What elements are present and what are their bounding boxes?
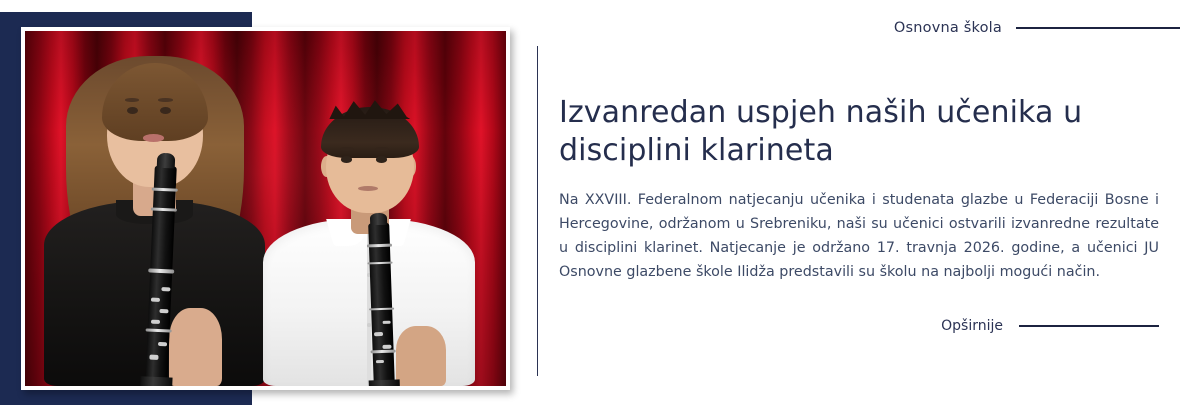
clarinet-bell: [140, 376, 173, 386]
clarinet-mouthpiece: [157, 152, 175, 168]
horizontal-rule-icon: [1016, 27, 1180, 29]
clarinet-key: [382, 320, 391, 324]
clarinet-ring: [152, 187, 179, 191]
page-title: Izvanredan uspjeh naših učenika u discip…: [559, 94, 1119, 171]
clarinet-bell: [369, 379, 400, 386]
clarinet-ring: [151, 207, 178, 211]
girl-eyebrow-left: [125, 98, 139, 102]
read-more-label: Opširnije: [941, 318, 1003, 334]
girl-eyebrow-right: [158, 98, 172, 102]
boy-hand: [396, 326, 446, 386]
clarinet-ring: [148, 269, 175, 273]
clarinet-key: [383, 345, 392, 349]
clarinet-ring: [371, 350, 396, 353]
category-eyebrow[interactable]: Osnovna škola: [894, 20, 1180, 36]
horizontal-rule-icon: [1019, 325, 1159, 327]
boy-eye-left: [341, 156, 352, 162]
news-card: Osnovna škola Izvanredan uspjeh naših uč…: [0, 0, 1200, 420]
clarinet-key: [159, 309, 168, 314]
clarinet-key: [158, 342, 167, 347]
clarinet-ring: [367, 244, 392, 247]
boy-eye-right: [376, 156, 387, 162]
photo-container[interactable]: [21, 27, 510, 390]
read-more-link[interactable]: Opširnije: [941, 318, 1159, 334]
media-area: [0, 0, 520, 420]
clarinet-key: [150, 355, 159, 360]
clarinet-ring: [369, 307, 394, 310]
content-column: Osnovna škola Izvanredan uspjeh naših uč…: [559, 0, 1200, 420]
students-photo: [25, 31, 506, 386]
clarinet-key: [161, 287, 170, 292]
clarinet-key: [151, 320, 160, 325]
girl-hand: [169, 308, 222, 386]
clarinet-key: [376, 360, 385, 364]
clarinet-ring: [368, 261, 393, 264]
girl-lips: [143, 134, 165, 142]
vertical-divider: [537, 46, 538, 376]
clarinet-key: [151, 298, 160, 303]
clarinet-key: [374, 332, 383, 336]
clarinet-mouthpiece: [370, 213, 387, 225]
article-summary: Na XXVIII. Federalnom natjecanju učenika…: [559, 188, 1159, 284]
boy-hair: [321, 107, 418, 158]
clarinet-ring: [145, 328, 172, 332]
category-label: Osnovna škola: [894, 20, 1002, 36]
